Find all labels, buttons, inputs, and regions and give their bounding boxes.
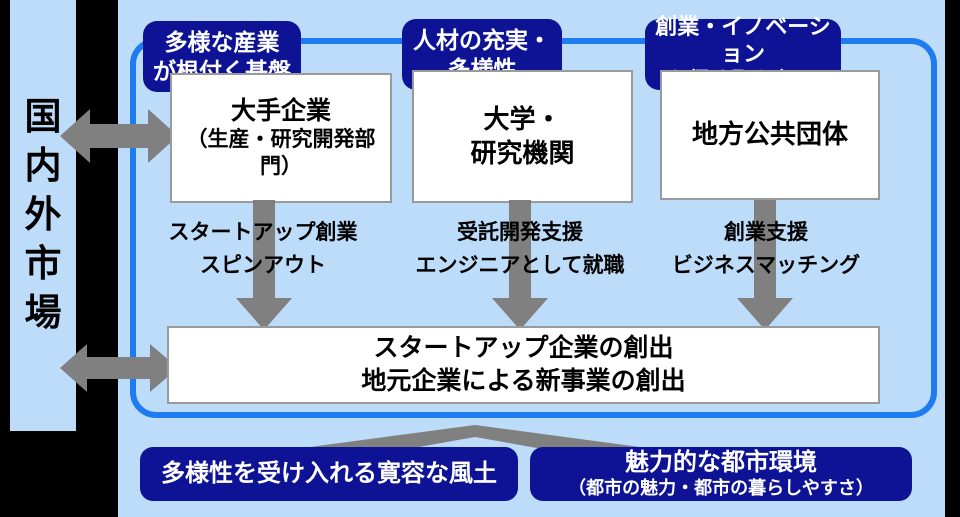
foundation-pill-1-line1: 魅力的な都市環境 — [568, 449, 874, 478]
market-char-3: 市 — [10, 239, 76, 288]
outcome-line1: スタートアップ企業の創出 — [361, 332, 685, 365]
foundation-pill-1-line2: （都市の魅力・都市の暮らしやすさ） — [568, 478, 874, 500]
flow-label-1: 受託開発支援 エンジニアとして就職 — [400, 216, 640, 282]
flow-label-1-line2: エンジニアとして就職 — [400, 249, 640, 282]
entity-box-1-title: 大学・ — [470, 103, 574, 136]
flow-label-0-line1: スタートアップ創業 — [150, 216, 376, 249]
market-char-2: 外 — [10, 190, 76, 239]
entity-box-local-government: 地方公共団体 — [660, 70, 880, 200]
entity-box-universities: 大学・ 研究機関 — [412, 70, 633, 203]
flow-label-0: スタートアップ創業 スピンアウト — [150, 216, 376, 282]
flow-label-2-line2: ビジネスマッチング — [648, 249, 884, 282]
foundation-pill-0-line1: 多様性を受け入れる寛容な風土 — [161, 460, 497, 489]
market-char-4: 場 — [10, 288, 76, 337]
outcome-box: スタートアップ企業の創出 地元企業による新事業の創出 — [167, 326, 880, 404]
pillar-label-2-line1: 創業・イノベーション — [645, 14, 841, 68]
flow-label-2-line1: 創業支援 — [648, 216, 884, 249]
entity-box-2-title: 地方公共団体 — [692, 118, 848, 151]
pillar-label-1-line1: 人材の充実・ — [413, 26, 551, 54]
diagram-canvas: 国 内 外 市 場 多様な産業 が根付く基盤 大手企業 （生産・研究開発部門） — [0, 0, 960, 517]
double-headed-arrow-icon-bottom — [60, 340, 178, 401]
entity-box-0-sub: （生産・研究開発部門） — [172, 127, 390, 181]
entity-box-large-companies: 大手企業 （生産・研究開発部門） — [170, 73, 392, 203]
flow-label-1-line1: 受託開発支援 — [400, 216, 640, 249]
double-headed-arrow-icon-top — [60, 105, 178, 172]
flow-label-2: 創業支援 ビジネスマッチング — [648, 216, 884, 282]
entity-box-0-title: 大手企業 — [172, 95, 390, 127]
outcome-line2: 地元企業による新事業の創出 — [361, 365, 685, 398]
foundation-pill-1: 魅力的な都市環境 （都市の魅力・都市の暮らしやすさ） — [530, 447, 912, 501]
flow-label-0-line2: スピンアウト — [150, 249, 376, 282]
pillar-label-0-line1: 多様な産業 — [153, 28, 291, 56]
foundation-pill-0: 多様性を受け入れる寛容な風土 — [140, 447, 518, 501]
entity-box-1-sub: 研究機関 — [470, 137, 574, 170]
